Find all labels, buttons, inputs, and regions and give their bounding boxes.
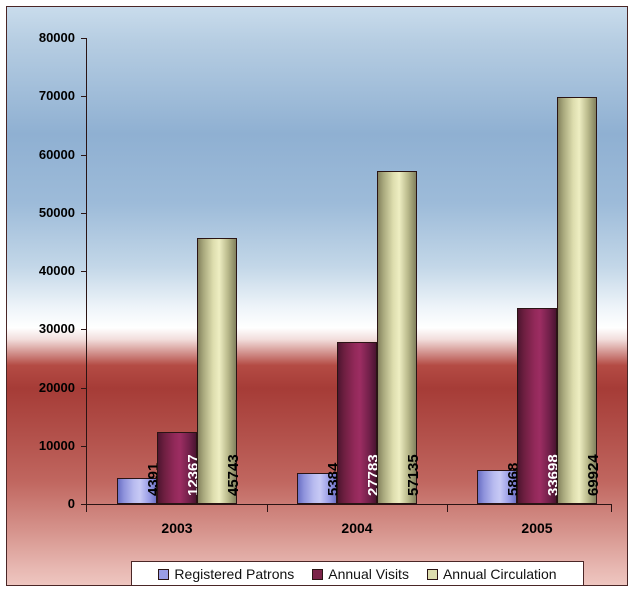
x-axis-line [86,504,612,505]
y-axis-tick-label: 60000 [7,148,75,161]
y-axis-tick [81,271,87,272]
y-axis-tick [81,155,87,156]
legend-item-0[interactable]: Registered Patrons [158,567,294,581]
y-axis-tick [81,38,87,39]
legend-item-1[interactable]: Annual Visits [312,567,409,581]
y-axis-tick [81,329,87,330]
x-axis-category-label: 2003 [137,520,217,536]
x-axis-tick [447,505,448,512]
y-axis-tick-label: 10000 [7,439,75,452]
legend-label: Annual Circulation [443,567,557,581]
bar-value-label: 45743 [225,454,242,496]
bar-value-label: 69924 [585,454,602,496]
y-axis-tick-label: 40000 [7,264,75,277]
y-axis-tick-label: 20000 [7,381,75,394]
y-axis-tick-label: 0 [7,497,75,510]
bar-2005-series2[interactable] [557,97,597,504]
x-axis-tick [267,505,268,512]
x-axis-tick [611,505,612,512]
y-axis-tick-label: 50000 [7,206,75,219]
bar-value-label: 57135 [405,454,422,496]
bar-chart: 0100002000030000400005000060000700008000… [0,0,634,592]
y-axis-tick-label: 30000 [7,322,75,335]
y-axis-tick [81,446,87,447]
chart-legend: Registered PatronsAnnual VisitsAnnual Ci… [131,561,584,586]
y-axis-tick [81,96,87,97]
x-axis-tick [86,505,87,512]
legend-swatch-icon [427,569,438,580]
y-axis-tick-label: 80000 [7,31,75,44]
legend-swatch-icon [158,569,169,580]
x-axis-category-label: 2005 [497,520,577,536]
legend-label: Annual Visits [328,567,409,581]
plot-area: 0100002000030000400005000060000700008000… [6,6,628,586]
y-axis-tick [81,388,87,389]
legend-label: Registered Patrons [174,567,294,581]
legend-item-2[interactable]: Annual Circulation [427,567,557,581]
y-axis-tick-label: 70000 [7,89,75,102]
legend-swatch-icon [312,569,323,580]
x-axis-category-label: 2004 [317,520,397,536]
y-axis-tick [81,213,87,214]
